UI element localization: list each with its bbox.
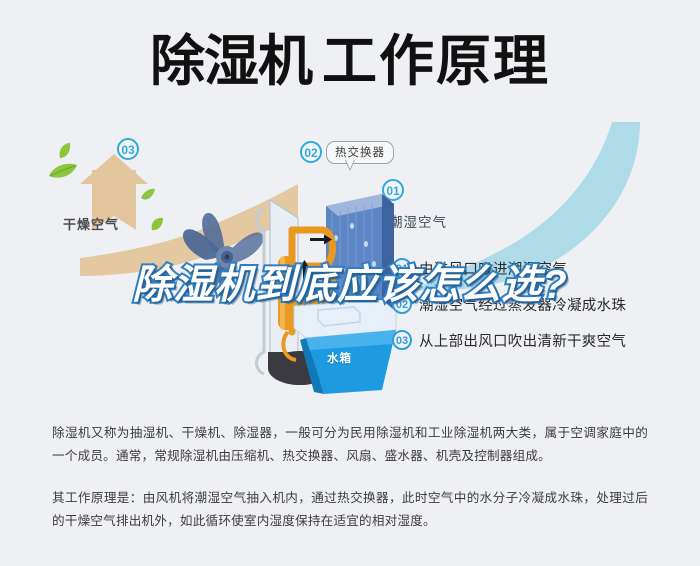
page-title-part1: 除湿机 — [150, 30, 312, 92]
legend-item: 03 从上部出风口吹出清新干爽空气 — [392, 322, 692, 358]
leaf-icon — [150, 217, 165, 232]
page-title-part2: 工作原理 — [322, 30, 550, 92]
infographic-page: 除湿机工作原理 03 干燥空气 01 潮 — [0, 0, 700, 566]
water-tank-icon — [290, 300, 400, 396]
body-paragraph-2: 其工作原理是：由风机将潮湿空气抽入机内，通过热交换器，此时空气中的水分子冷凝成水… — [52, 487, 648, 533]
leaf-icon — [48, 162, 78, 180]
dehumidifier-diagram: 03 干燥空气 01 潮湿空气 02 热交换器 — [0, 122, 700, 400]
overlay-headline: 除湿机到底应该怎么选? — [0, 262, 700, 308]
legend-number: 03 — [392, 330, 412, 350]
diagram-badge-dry-air: 03 — [117, 138, 139, 160]
body-paragraph-1: 除湿机又称为抽湿机、干燥机、除湿器，一般可分为民用除湿机和工业除湿机两大类，属于… — [52, 422, 648, 468]
callout-tail-icon — [345, 160, 355, 171]
body-copy: 除湿机又称为抽湿机、干燥机、除湿器，一般可分为民用除湿机和工业除湿机两大类，属于… — [0, 400, 700, 566]
leaf-icon — [58, 143, 72, 159]
water-tank-label: 水箱 — [327, 350, 352, 366]
dry-air-label: 干燥空气 — [63, 214, 119, 233]
heat-exchanger-callout: 热交换器 — [326, 141, 394, 164]
legend-label: 从上部出风口吹出清新干爽空气 — [419, 330, 626, 351]
page-title: 除湿机工作原理 — [0, 30, 700, 92]
diagram-badge-heat-exchanger: 02 — [300, 141, 322, 163]
title-banner: 除湿机工作原理 — [0, 0, 700, 122]
leaf-icon — [140, 188, 156, 202]
